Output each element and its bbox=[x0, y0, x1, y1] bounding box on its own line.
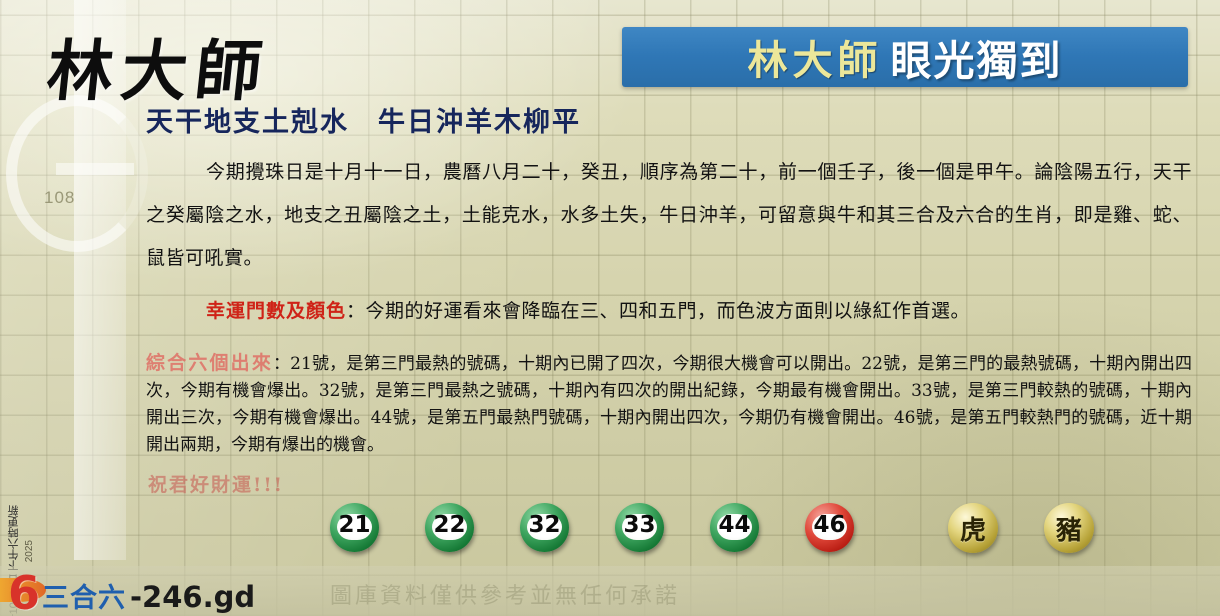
zodiac-ball-pig: 豬 bbox=[1044, 503, 1094, 553]
banner-name: 林大師 bbox=[748, 28, 883, 86]
lottery-ball: 22 bbox=[425, 503, 474, 552]
zodiac-row: 虎 豬 bbox=[948, 503, 1094, 553]
ball-number: 21 bbox=[338, 514, 370, 537]
zodiac-ball-tiger: 虎 bbox=[948, 503, 998, 553]
lucky-paragraph: 幸運門數及顏色：今期的好運看來會降臨在三、四和五門，而色波方面則以綠紅作首選。 bbox=[146, 294, 1192, 328]
summary-paragraph: 綜合六個出來：21號，是第三門最熱的號碼，十期內已開了四次，今期很大機會可以開出… bbox=[146, 350, 1192, 459]
lottery-ball: 44 bbox=[710, 503, 759, 552]
vertical-year: 2025 bbox=[24, 540, 35, 562]
ball-number: 32 bbox=[528, 514, 560, 537]
page-number: 108 bbox=[44, 188, 75, 208]
lottery-ball: 32 bbox=[520, 503, 569, 552]
lottery-ball: 33 bbox=[615, 503, 664, 552]
ball-number: 44 bbox=[718, 514, 750, 537]
ball-number: 22 bbox=[433, 514, 465, 537]
ball-number: 46 bbox=[813, 514, 845, 537]
poster-page: 108 林大師 林大師 眼光獨到 天干地支土剋水 牛日沖羊木柳平 今期攪珠日是十… bbox=[0, 0, 1220, 616]
footer-disclaimer: 圖庫資料僅供參考並無任何承諾 bbox=[330, 578, 680, 610]
headline-banner: 林大師 眼光獨到 bbox=[622, 27, 1188, 87]
lottery-ball: 46 bbox=[805, 503, 854, 552]
lucky-label: 幸運門數及顏色 bbox=[206, 300, 346, 322]
footer-logo-digit: 6 bbox=[8, 572, 40, 614]
footer-site-logo[interactable]: 6 三合六 -246.gd bbox=[8, 572, 255, 614]
article-title: 天干地支土剋水 牛日沖羊木柳平 bbox=[146, 100, 1192, 139]
summary-text: ：21號，是第三門最熱的號碼，十期內已開了四次，今期很大機會可以開出。22號，是… bbox=[146, 354, 1192, 455]
article-paragraph-1: 今期攪珠日是十月十一日，農曆八月二十，癸丑，順序為第二十，前一個壬子，後一個是甲… bbox=[146, 151, 1192, 280]
zodiac-label: 虎 bbox=[960, 510, 986, 547]
footer-domain: -246.gd bbox=[130, 581, 255, 614]
article-body: 天干地支土剋水 牛日沖羊木柳平 今期攪珠日是十月十一日，農曆八月二十，癸丑，順序… bbox=[146, 100, 1192, 459]
lottery-ball-row: 21 22 32 33 44 46 bbox=[330, 503, 854, 552]
lottery-ball: 21 bbox=[330, 503, 379, 552]
watermark-bar-icon bbox=[56, 163, 134, 175]
banner-slogan: 眼光獨到 bbox=[891, 27, 1063, 87]
wish-text: 祝君好財運!!! bbox=[148, 470, 284, 497]
footer-logo-cn: 三合六 bbox=[42, 584, 126, 614]
zodiac-label: 豬 bbox=[1056, 510, 1082, 547]
lucky-text: ：今期的好運看來會降臨在三、四和五門，而色波方面則以綠紅作首選。 bbox=[346, 300, 970, 322]
summary-label: 綜合六個出來 bbox=[146, 352, 273, 374]
ball-number: 33 bbox=[623, 514, 655, 537]
